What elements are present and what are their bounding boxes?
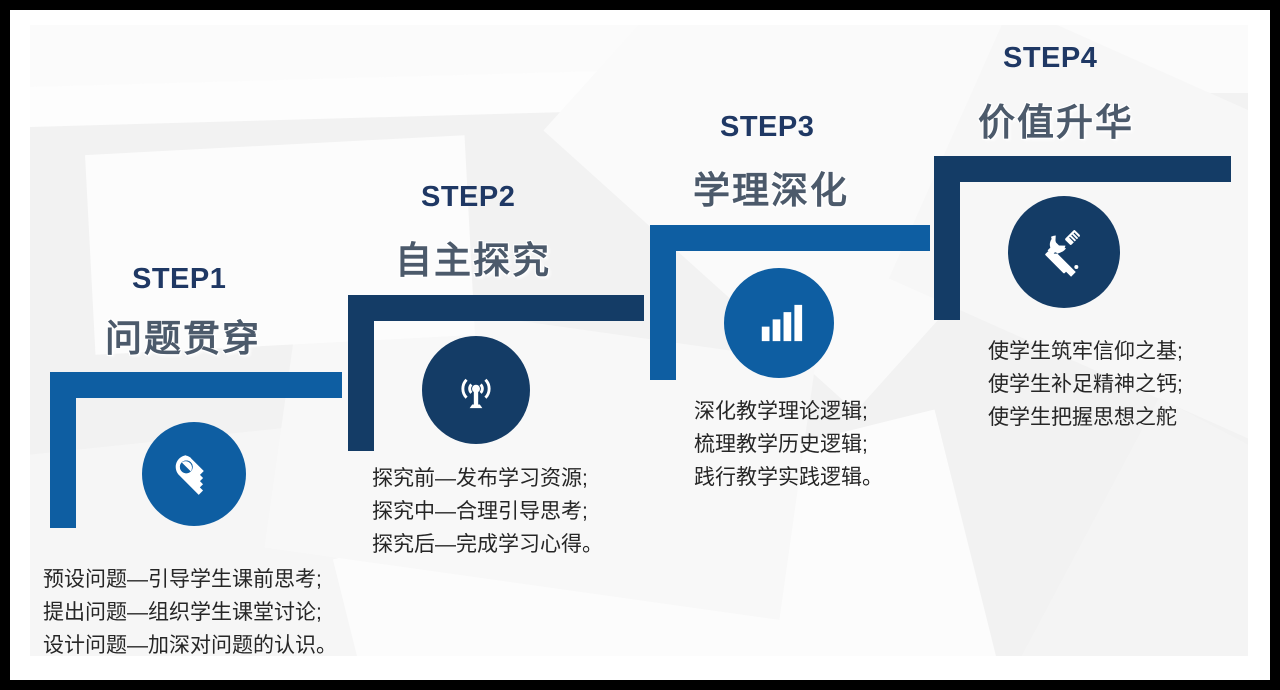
desc-line: 深化教学理论逻辑; [694,395,883,428]
step-4-icon-circle[interactable] [1008,196,1120,308]
step-1-icon-circle[interactable] [142,422,246,526]
key-icon [166,446,222,502]
bracket-top-bar [934,156,1231,182]
step-1-description: 预设问题—引导学生课前思考; 提出问题—组织学生课堂讨论; 设计问题—加深对问题… [43,563,337,662]
desc-line: 践行教学实践逻辑。 [694,461,883,494]
desc-line: 探究中—合理引导思考; [372,495,603,528]
desc-line: 提出问题—组织学生课堂讨论; [43,596,337,629]
desc-line: 使学生筑牢信仰之基; [988,335,1183,368]
bracket-left-bar [650,225,676,380]
step-4-label: STEP4 [1003,42,1097,75]
slide-canvas: STEP1 问题贯穿 预设问题—引导学生课前思考; 提出问题—组织学生课堂讨论;… [10,10,1270,680]
tools-icon [1035,223,1093,281]
bar-chart-icon [750,294,808,352]
step-2-label: STEP2 [421,181,515,214]
step-4-title: 价值升华 [978,92,1134,146]
desc-line: 设计问题—加深对问题的认识。 [43,629,337,662]
desc-line: 探究前—发布学习资源; [372,462,603,495]
step-1-title: 问题贯穿 [105,308,261,362]
step-3-icon-circle[interactable] [724,268,834,378]
desc-line: 使学生把握思想之舵 [988,401,1183,434]
broadcast-icon [447,361,505,419]
desc-line: 探究后—完成学习心得。 [372,528,603,561]
step-1-label: STEP1 [132,263,226,296]
bracket-left-bar [50,372,76,528]
desc-line: 梳理教学历史逻辑; [694,428,883,461]
step-4-description: 使学生筑牢信仰之基; 使学生补足精神之钙; 使学生把握思想之舵 [988,335,1183,434]
desc-line: 使学生补足精神之钙; [988,368,1183,401]
bracket-top-bar [348,295,644,321]
bracket-top-bar [50,372,342,398]
bracket-top-bar [650,225,930,251]
step-2-description: 探究前—发布学习资源; 探究中—合理引导思考; 探究后—完成学习心得。 [372,462,603,561]
bracket-left-bar [348,295,374,451]
desc-line: 预设问题—引导学生课前思考; [43,563,337,596]
step-3-description: 深化教学理论逻辑; 梳理教学历史逻辑; 践行教学实践逻辑。 [694,395,883,494]
bracket-left-bar [934,156,960,320]
bg-polygon [1018,397,1248,656]
step-2-icon-circle[interactable] [422,336,530,444]
step-3-title: 学理深化 [693,160,849,214]
step-2-title: 自主探究 [395,230,551,284]
step-3-label: STEP3 [720,111,814,144]
